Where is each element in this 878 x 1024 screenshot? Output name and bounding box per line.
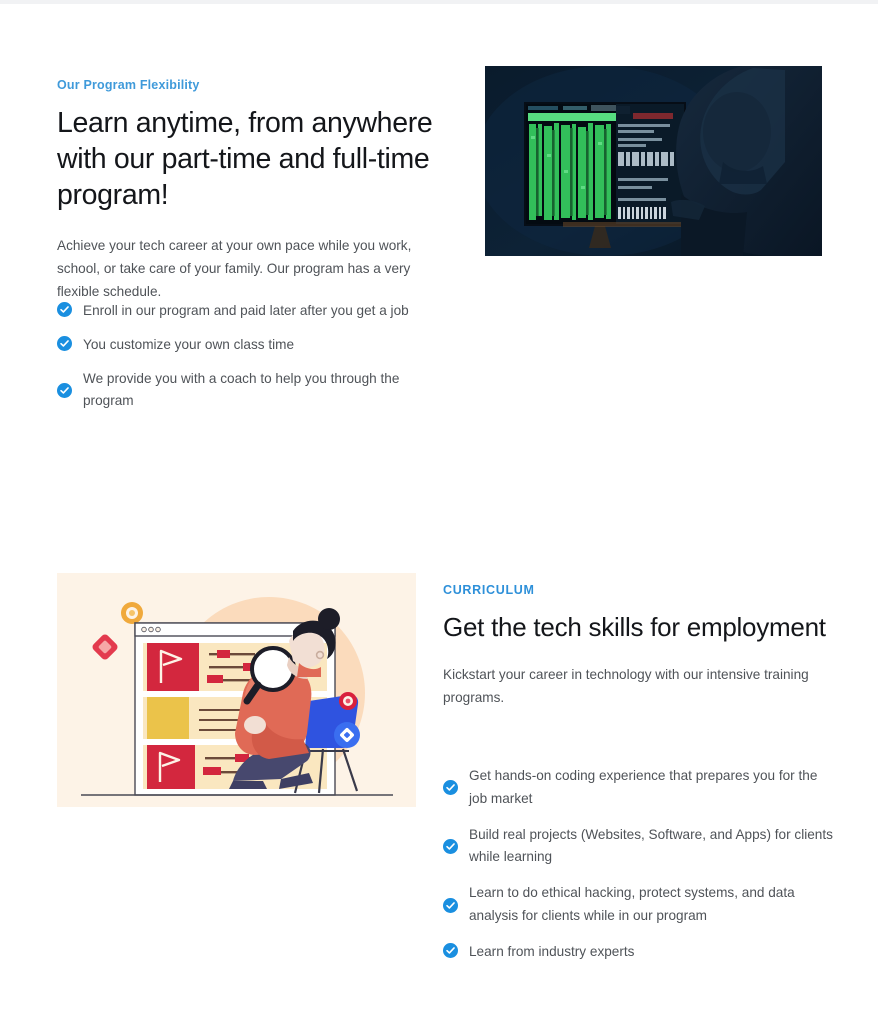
list-item: You customize your own class time <box>57 334 447 357</box>
page-title: Learn anytime, from anywhere with our pa… <box>57 106 457 214</box>
section-body-text: Kickstart your career in technology with… <box>443 663 828 710</box>
list-item: Build real projects (Websites, Software,… <box>443 824 835 870</box>
list-item: Learn from industry experts <box>443 941 835 964</box>
list-item-label: Get hands-on coding experience that prep… <box>469 765 835 811</box>
hacker-at-monitor-photo <box>485 66 822 256</box>
curriculum-text-block: CURRICULUM Get the tech skills for emplo… <box>443 583 835 729</box>
woman-reviewing-website-illustration <box>57 573 416 807</box>
program-flexibility-text-block: Our Program Flexibility Learn anytime, f… <box>57 78 457 326</box>
check-circle-icon <box>443 943 458 958</box>
landing-page: Our Program Flexibility Learn anytime, f… <box>0 0 878 1024</box>
section-title: Get the tech skills for employment <box>443 610 835 645</box>
list-item-label: Learn from industry experts <box>469 941 634 964</box>
list-item: Get hands-on coding experience that prep… <box>443 765 835 811</box>
list-item-label: You customize your own class time <box>83 334 294 357</box>
list-item-label: Enroll in our program and paid later aft… <box>83 300 409 323</box>
curriculum-section: CURRICULUM Get the tech skills for emplo… <box>0 520 878 1024</box>
check-circle-icon <box>57 383 72 398</box>
program-flexibility-section: Our Program Flexibility Learn anytime, f… <box>0 0 878 520</box>
section-body-text: Achieve your tech career at your own pac… <box>57 234 432 304</box>
check-circle-icon <box>57 302 72 317</box>
list-item-label: We provide you with a coach to help you … <box>83 368 447 414</box>
list-item-label: Learn to do ethical hacking, protect sys… <box>469 882 835 928</box>
flexibility-benefits-list: Enroll in our program and paid later aft… <box>57 300 447 424</box>
curriculum-benefits-list: Get hands-on coding experience that prep… <box>443 765 835 977</box>
check-circle-icon <box>443 898 458 913</box>
list-item: Learn to do ethical hacking, protect sys… <box>443 882 835 928</box>
check-circle-icon <box>57 336 72 351</box>
check-circle-icon <box>443 839 458 854</box>
list-item: Enroll in our program and paid later aft… <box>57 300 447 323</box>
section-eyebrow: CURRICULUM <box>443 583 835 597</box>
section-eyebrow: Our Program Flexibility <box>57 78 457 92</box>
list-item-label: Build real projects (Websites, Software,… <box>469 824 835 870</box>
check-circle-icon <box>443 780 458 795</box>
list-item: We provide you with a coach to help you … <box>57 368 447 414</box>
